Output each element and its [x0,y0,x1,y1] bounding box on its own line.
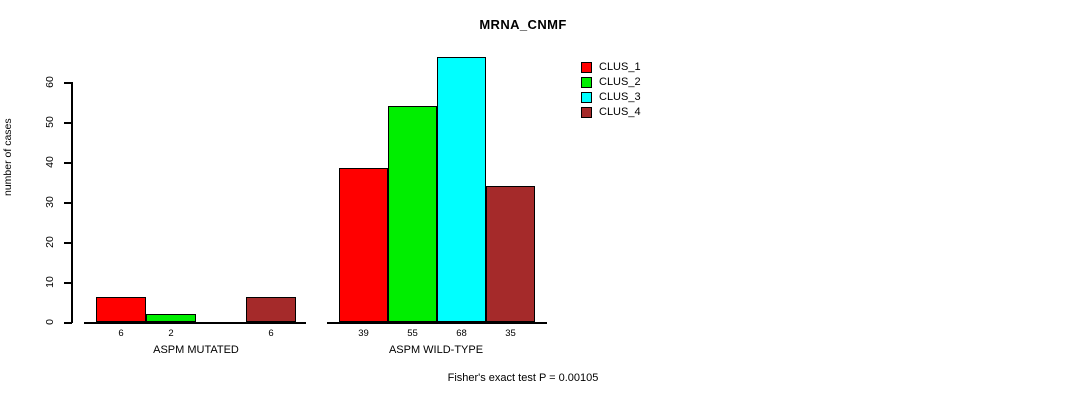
bar-group1-clus2 [146,314,196,322]
bar-group2-clus4 [486,186,535,322]
legend: CLUS_1 CLUS_2 CLUS_3 CLUS_4 [581,60,641,120]
legend-label-clus-1: CLUS_1 [599,62,641,73]
y-tick-label-0: 0 [44,310,56,334]
bar-value-label-group2-clus2: 55 [388,328,437,339]
legend-swatch-clus-2 [581,77,592,88]
legend-item-clus-2: CLUS_2 [581,75,641,90]
y-tick-mark-50 [64,122,72,124]
bar-chart-figure: MRNA_CNMF number of cases 60 50 40 30 20… [0,0,1090,400]
bar-value-label-group1-clus2: 2 [146,328,196,339]
chart-title: MRNA_CNMF [0,17,1068,32]
bar-value-label-group2-clus3: 68 [437,328,486,339]
bar-group2-clus2 [388,106,437,322]
bar-value-label-group1-clus4: 6 [246,328,296,339]
bar-group1-clus1 [96,297,146,322]
group-label-aspm-mutated: ASPM MUTATED [96,344,296,356]
y-tick-mark-20 [64,242,72,244]
legend-label-clus-4: CLUS_4 [599,107,641,118]
bar-value-label-group2-clus1: 39 [339,328,388,339]
y-tick-label-50: 50 [44,110,56,134]
y-tick-label-30: 30 [44,190,56,214]
x-axis-baseline-group-1 [84,322,306,324]
y-tick-label-20: 20 [44,230,56,254]
y-tick-mark-60 [64,82,72,84]
y-tick-label-40: 40 [44,150,56,174]
y-tick-label-60: 60 [44,70,56,94]
statistical-annotation: Fisher's exact test P = 0.00105 [0,372,1068,384]
legend-label-clus-3: CLUS_3 [599,92,641,103]
y-tick-label-10: 10 [44,270,56,294]
y-axis-title: number of cases [2,118,14,196]
legend-swatch-clus-3 [581,92,592,103]
bar-value-label-group2-clus4: 35 [486,328,535,339]
bar-group2-clus1 [339,168,388,322]
group-label-aspm-wild-type: ASPM WILD-TYPE [337,344,535,356]
bar-value-label-group1-clus1: 6 [96,328,146,339]
bar-group1-clus4 [246,297,296,322]
legend-label-clus-2: CLUS_2 [599,77,641,88]
y-tick-mark-30 [64,202,72,204]
legend-item-clus-4: CLUS_4 [581,105,641,120]
bar-group2-clus3 [437,57,486,322]
x-axis-baseline-group-2 [327,322,547,324]
legend-swatch-clus-1 [581,62,592,73]
y-tick-mark-10 [64,282,72,284]
y-tick-mark-0 [64,322,72,324]
legend-item-clus-3: CLUS_3 [581,90,641,105]
legend-swatch-clus-4 [581,107,592,118]
y-tick-mark-40 [64,162,72,164]
legend-item-clus-1: CLUS_1 [581,60,641,75]
